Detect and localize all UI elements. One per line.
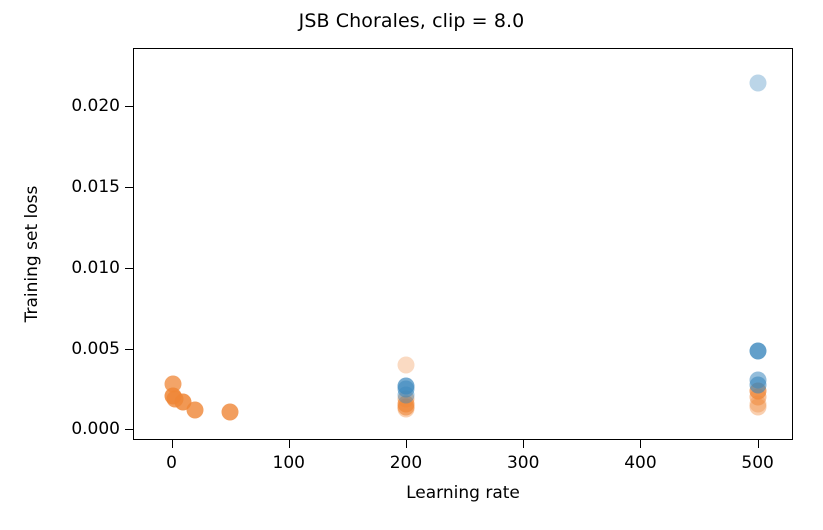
data-point [749,74,766,91]
plot-axes: 0.0000.0050.0100.0150.020 01002003004005… [133,48,793,440]
data-point [749,342,766,359]
x-tick-mark [523,439,524,448]
y-axis-label: Training set loss [22,104,42,404]
y-tick-label: 0.015 [71,177,120,197]
chart-title: JSB Chorales, clip = 8.0 [0,10,823,32]
x-tick-label: 0 [166,453,177,473]
y-tick-mark [125,187,134,188]
x-tick-mark [406,439,407,448]
plot-area [134,49,792,439]
data-point [397,356,414,373]
y-tick-mark [125,349,134,350]
x-tick-label: 400 [624,453,656,473]
y-tick-mark [125,106,134,107]
y-tick-mark [125,429,134,430]
y-tick-mark [125,268,134,269]
y-tick-label: 0.000 [71,419,120,439]
y-tick-label: 0.020 [71,96,120,116]
x-tick-label: 200 [390,453,422,473]
x-tick-label: 300 [507,453,539,473]
data-point [186,401,203,418]
data-point [749,377,766,394]
y-tick-label: 0.005 [71,339,120,359]
x-axis-label: Learning rate [133,483,793,503]
x-tick-label: 500 [741,453,773,473]
figure: JSB Chorales, clip = 8.0 0.0000.0050.010… [0,0,823,530]
y-tick-label: 0.010 [71,258,120,278]
data-point [749,398,766,415]
x-tick-label: 100 [273,453,305,473]
data-point [222,404,239,421]
data-point [397,386,414,403]
x-tick-mark [758,439,759,448]
x-tick-mark [289,439,290,448]
x-tick-mark [172,439,173,448]
x-tick-mark [640,439,641,448]
